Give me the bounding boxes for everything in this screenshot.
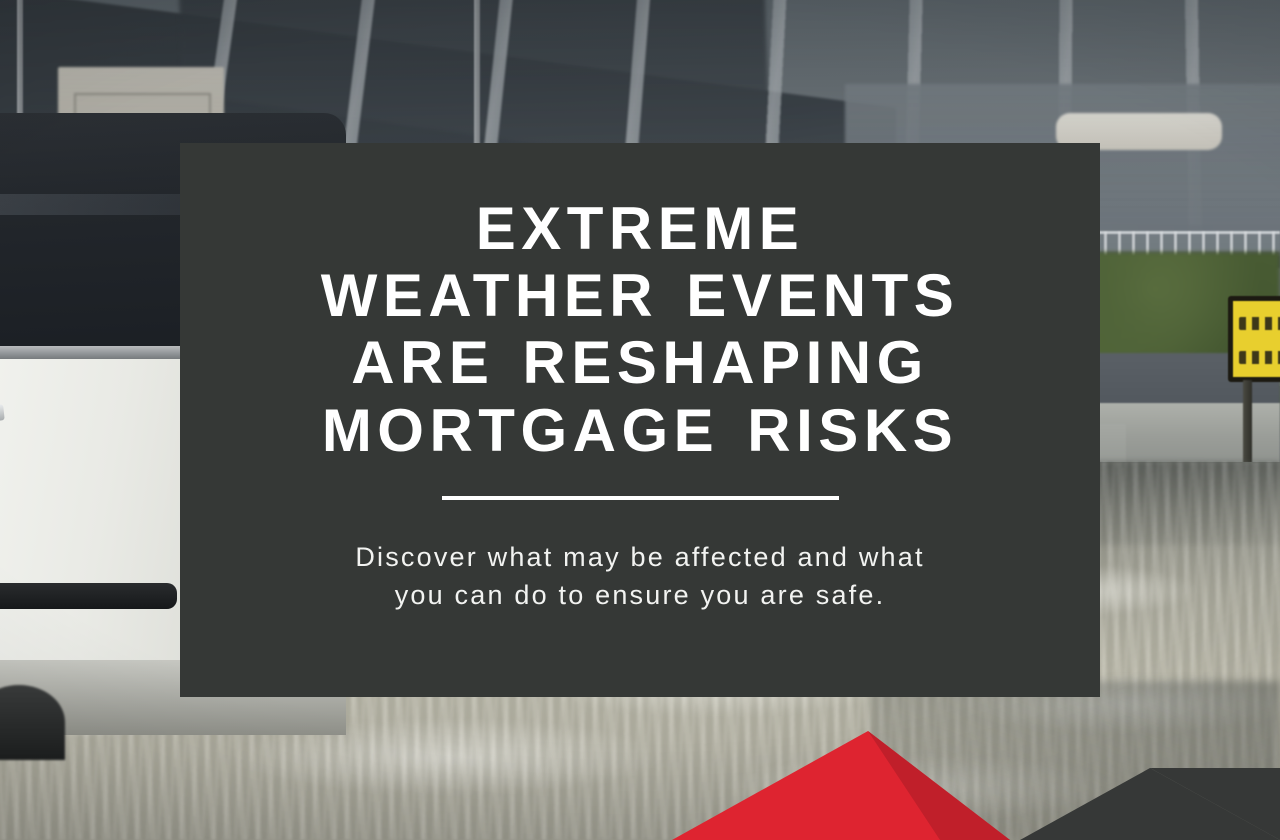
subtitle-line-2: you can do to ensure you are safe. xyxy=(395,580,886,610)
headline-line-4: MORTGAGE RISKS xyxy=(322,397,958,464)
content-panel: EXTREMEWEATHER EVENTSARE RESHAPINGMORTGA… xyxy=(180,143,1100,697)
utility-pole xyxy=(474,0,480,151)
truck-side-molding xyxy=(0,583,177,609)
floodwater-shadow xyxy=(870,681,1280,840)
subtitle: Discover what may be affected and whatyo… xyxy=(355,538,924,615)
subtitle-line-1: Discover what may be affected and what xyxy=(355,542,924,572)
yellow-road-sign xyxy=(1228,296,1280,382)
headline-line-1: EXTREME xyxy=(476,195,805,262)
title-divider xyxy=(442,496,839,500)
sign-text-line xyxy=(1239,351,1280,364)
headline-line-2: WEATHER EVENTS xyxy=(321,262,960,329)
sign-text-line xyxy=(1239,317,1280,330)
page-title: EXTREMEWEATHER EVENTSARE RESHAPINGMORTGA… xyxy=(321,195,960,464)
poster-canvas: EXTREMEWEATHER EVENTSARE RESHAPINGMORTGA… xyxy=(0,0,1280,840)
headline-line-3: ARE RESHAPING xyxy=(351,329,929,396)
